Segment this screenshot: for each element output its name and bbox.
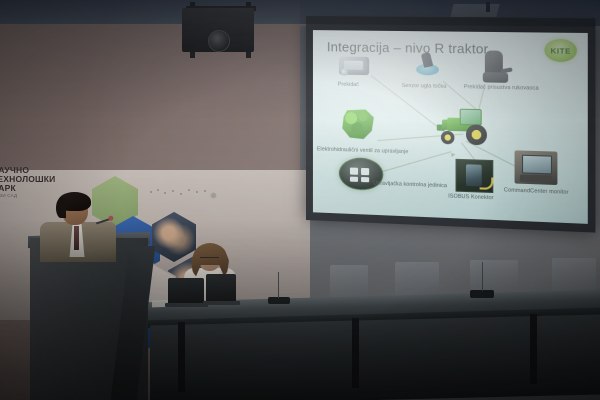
laptop-screen [168, 278, 204, 304]
slide-label-valve: Elektrohidraulični ventil za upravljanje [317, 146, 409, 155]
laptop-keyboard [203, 301, 240, 305]
operator-seat-icon [485, 50, 503, 75]
tractor-rear-wheel-icon [466, 124, 487, 145]
wall-dot-pattern [150, 188, 216, 196]
ceiling-projector [182, 8, 254, 52]
slide-label-isobus: ISOBUS Konektor [448, 193, 493, 201]
microphone-base [268, 297, 290, 304]
microphone-base [470, 290, 494, 298]
venue-wall-text-line3: ПАРК [0, 184, 70, 193]
presenter [36, 196, 122, 258]
laptop-right [206, 274, 236, 302]
ceiling-bracket [450, 4, 499, 17]
laptop-left [168, 278, 204, 304]
ecu-chip-icon-3 [350, 177, 358, 182]
slide-label-monitor: CommandCenter monitor [504, 187, 569, 196]
table-leg [530, 314, 537, 384]
slide-title: Integracija – nivo R traktor [327, 39, 489, 56]
projection-screen: Integracija – nivo R traktor KITE [306, 22, 595, 233]
table-leg [178, 322, 185, 392]
commandcenter-monitor-icon [515, 150, 558, 185]
tractor-front-wheel-icon [441, 131, 455, 145]
tractor-cab-icon [460, 109, 482, 126]
seat-cushion-icon [483, 72, 508, 83]
slide-label-ecu: Upravljačka kontrolna jedinica [373, 180, 447, 189]
glasses-icon [200, 257, 219, 263]
microphone-stem [278, 272, 279, 298]
switch-knob-icon [341, 69, 348, 76]
connector-arrowhead [451, 152, 456, 157]
ceiling-bracket-stem [486, 2, 490, 12]
kite-logo-text: KITE [551, 46, 571, 56]
ecu-chip-icon-4 [361, 177, 369, 182]
kite-logo-icon: KITE [544, 39, 576, 62]
presenter-tie [74, 226, 79, 250]
photo-scene: НАУЧНО ТЕХНОЛОШКИ ПАРК НОВИ САД [0, 0, 600, 400]
table-leg [352, 318, 359, 388]
screen-surface: Integracija – nivo R traktor KITE [313, 30, 588, 224]
slide-label-seat-switch: Prekidač prisustva rukovaoca [464, 84, 539, 92]
screen-roller-bar [306, 16, 595, 27]
monitor-base-icon [520, 174, 552, 182]
projector-lens-icon [208, 30, 230, 52]
ecu-chip-icon [350, 168, 358, 175]
monitor-display-icon [522, 155, 552, 175]
microphone-stem [482, 262, 483, 291]
laptop-keyboard [165, 303, 208, 307]
laptop-screen [206, 274, 236, 302]
presentation-slide: Integracija – nivo R traktor KITE [313, 30, 588, 224]
venue-wall-text: НАУЧНО ТЕХНОЛОШКИ ПАРК НОВИ САД [0, 166, 70, 198]
slide-label-wheel-sensor: Senzor ugla točka [402, 83, 447, 90]
presenter-hair-side [56, 198, 66, 218]
switch-icon [339, 56, 369, 75]
wheel-angle-sensor-icon [416, 64, 439, 76]
isobus-cable-icon [480, 177, 494, 190]
isobus-connector-icon [456, 159, 494, 193]
electrohydraulic-valve-icon [341, 109, 375, 140]
ecu-chip-icon-2 [361, 168, 369, 175]
slide-label-switch: Prekidač [338, 82, 359, 88]
tractor-illustration [437, 111, 491, 147]
